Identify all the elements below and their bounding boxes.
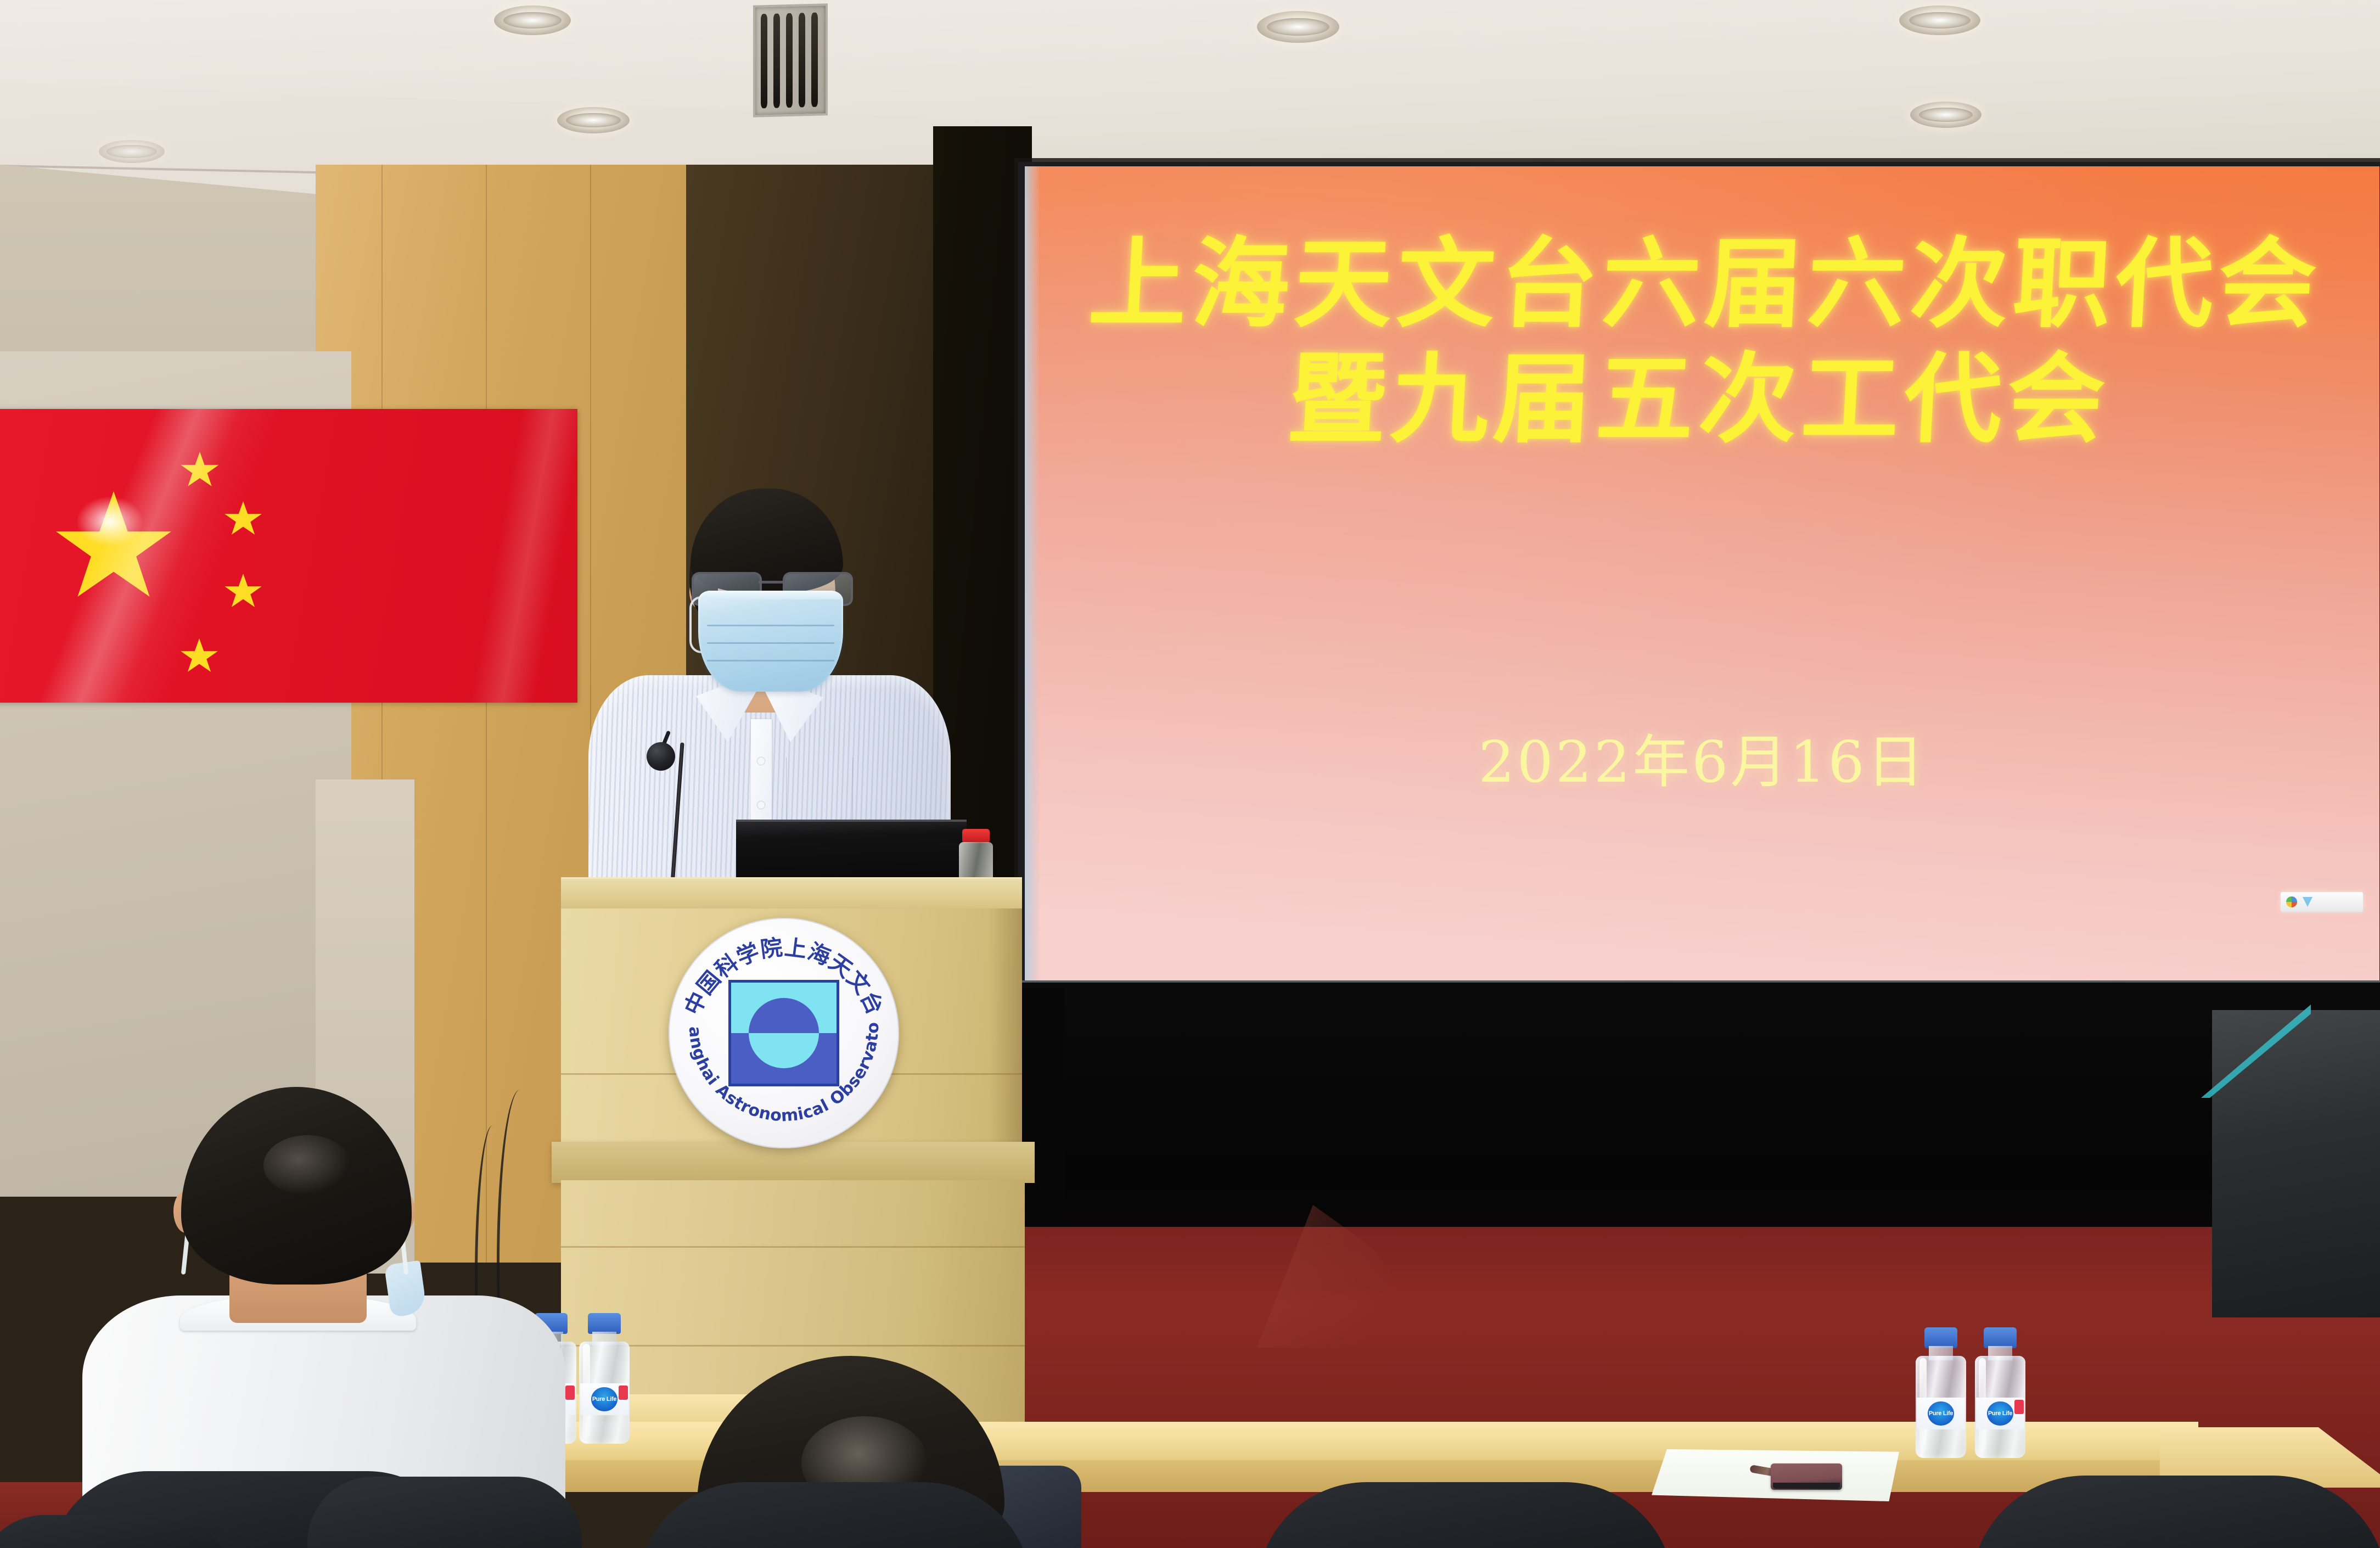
ceiling-downlight-icon: [1910, 102, 1982, 128]
water-bottle[interactable]: Pure Life: [1916, 1327, 1966, 1458]
bottle-brand-mark: Pure Life: [591, 1387, 618, 1411]
slide-date: 2022年6月16日: [1025, 715, 2379, 798]
monitor-sticker: [2201, 1005, 2311, 1098]
bottle-label-tab: [2014, 1400, 2024, 1414]
slide-title-line-2: 暨九届五次工代会: [1025, 342, 2379, 457]
bottle-label: Pure Life: [1917, 1398, 1965, 1429]
ceiling-downlight-icon: [1257, 11, 1339, 43]
phone-bottom-edge: [1773, 1483, 1840, 1489]
conference-room-photo: 上海天文台六届六次职代会 暨九届五次工代会 2022年6月16日: [0, 0, 2380, 1548]
bottle-label-tab: [619, 1386, 628, 1400]
stage-backdrop-black: [1018, 983, 2380, 1246]
flag-gloss-right: [402, 409, 577, 703]
bottle-cap: [1924, 1327, 1957, 1348]
water-bottle[interactable]: Pure Life: [1975, 1327, 2025, 1458]
bottle-cap: [1984, 1327, 2017, 1348]
speaker-shirt-pocket: [786, 758, 853, 824]
logo-mark-circle: [749, 998, 819, 1068]
slide-title-line-1: 上海天文台六届六次职代会: [1086, 227, 2324, 341]
bottle-cap: [588, 1313, 621, 1334]
shirt-button: [757, 801, 765, 809]
bottle-label-tab: [565, 1386, 575, 1400]
microphone-icon: [647, 742, 675, 771]
smartphone[interactable]: [1771, 1463, 1842, 1490]
ceiling-downlight-icon: [1899, 5, 1980, 35]
air-vent-icon: [753, 3, 828, 117]
logo-mark-square: [728, 980, 839, 1086]
ceiling-downlight-icon: [99, 140, 165, 163]
ceiling-downlight-icon: [557, 107, 630, 133]
bottle-cap: [962, 829, 990, 843]
browser-icon: [2286, 896, 2297, 907]
attendee-hair: [181, 1087, 412, 1285]
stage-monitor-right: [2212, 1010, 2380, 1317]
projection-screen[interactable]: 上海天文台六届六次职代会 暨九届五次工代会 2022年6月16日: [1025, 166, 2379, 982]
observatory-logo: 中国科学院上海天文台 Shanghai Astronomical Observa…: [669, 918, 899, 1148]
ceiling-downlight-icon: [494, 5, 571, 35]
slide-title: 上海天文台六届六次职代会 暨九届五次工代会: [1025, 227, 2379, 457]
chair-back: [307, 1477, 582, 1548]
projected-taskbar: [2281, 892, 2363, 912]
shirt-button: [757, 758, 765, 765]
app-icon: [2303, 897, 2312, 907]
chinese-national-flag: [0, 409, 577, 703]
laptop[interactable]: [736, 820, 967, 883]
face-mask: [698, 591, 843, 692]
bottle-brand-mark: Pure Life: [1928, 1401, 1954, 1426]
flag-gloss: [0, 409, 344, 703]
projection-screen-frame: 上海天文台六届六次职代会 暨九届五次工代会 2022年6月16日: [1018, 162, 2380, 985]
bottle-brand-mark: Pure Life: [1987, 1401, 2013, 1426]
water-bottle[interactable]: Pure Life: [579, 1313, 630, 1444]
